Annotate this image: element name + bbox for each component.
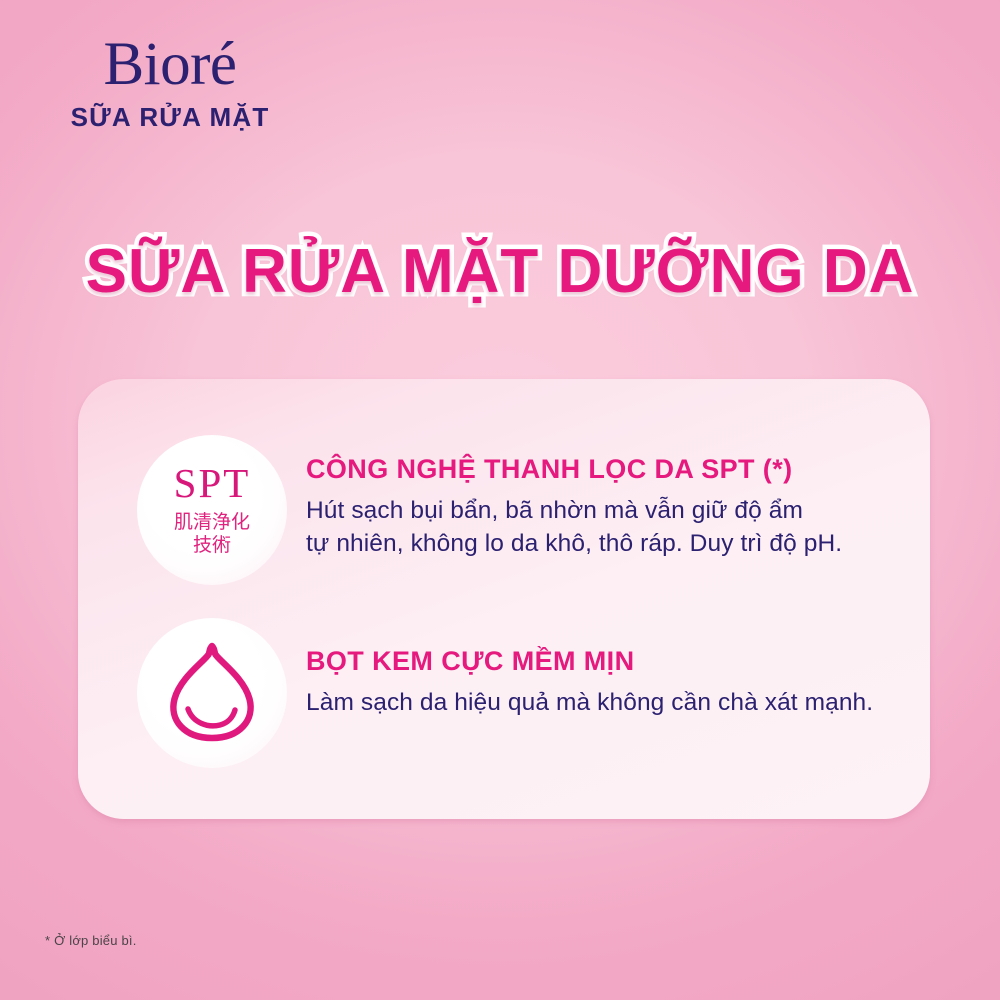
water-droplet-icon	[126, 607, 298, 779]
features-card: SPT 肌清浄化 技術 CÔNG NGHỆ THANH LỌC DA SPT (…	[78, 379, 930, 819]
brand-wordmark: Bioré	[40, 34, 300, 95]
spt-badge-icon: SPT 肌清浄化 技術	[126, 424, 298, 596]
spt-japanese-line-1: 肌清浄化	[174, 511, 251, 534]
page-title: SỮA RỬA MẶT DƯỠNG DA	[0, 239, 1000, 304]
feature-body: Làm sạch da hiệu quả mà không cần chà xá…	[306, 686, 873, 719]
poster-canvas: Bioré SỮA RỬA MẶT SỮA RỬA MẶT DƯỠNG DA S…	[0, 0, 1000, 1000]
feature-text-block: BỌT KEM CỰC MỀM MỊN Làm sạch da hiệu quả…	[306, 607, 873, 719]
feature-text-block: CÔNG NGHỆ THANH LỌC DA SPT (*) Hút sạch …	[306, 424, 842, 560]
feature-body: Hút sạch bụi bẩn, bã nhờn mà vẫn giữ độ …	[306, 494, 842, 560]
brand-logo: Bioré SỮA RỬA MẶT	[40, 34, 300, 130]
water-droplet-glyph	[160, 637, 264, 749]
feature-item-foam: BỌT KEM CỰC MỀM MỊN Làm sạch da hiệu quả…	[126, 607, 873, 779]
feature-title: BỌT KEM CỰC MỀM MỊN	[306, 647, 873, 677]
spt-badge-content: SPT 肌清浄化 技術	[174, 463, 251, 557]
spt-japanese-line-2: 技術	[174, 534, 251, 557]
footnote: * Ở lớp biểu bì.	[45, 933, 137, 948]
brand-subtitle: SỮA RỬA MẶT	[40, 104, 300, 130]
spt-letters: SPT	[174, 463, 251, 504]
feature-item-spt: SPT 肌清浄化 技術 CÔNG NGHỆ THANH LỌC DA SPT (…	[126, 424, 842, 596]
feature-title: CÔNG NGHỆ THANH LỌC DA SPT (*)	[306, 455, 842, 485]
